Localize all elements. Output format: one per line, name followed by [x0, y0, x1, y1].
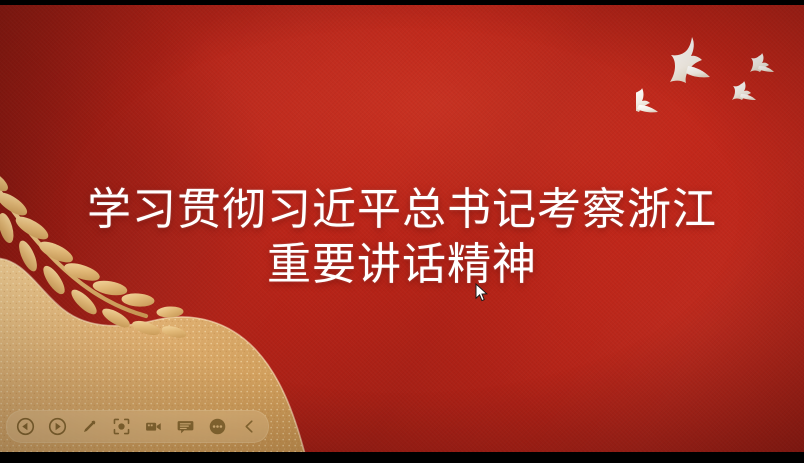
slide-stage[interactable]: 学习贯彻习近平总书记考察浙江 重要讲话精神 [0, 5, 804, 452]
letterbox-bar-bottom [0, 452, 804, 463]
screen-root: 学习贯彻习近平总书记考察浙江 重要讲话精神 [0, 0, 804, 463]
letterbox-bar-top [0, 0, 804, 5]
vignette-overlay [0, 5, 804, 452]
